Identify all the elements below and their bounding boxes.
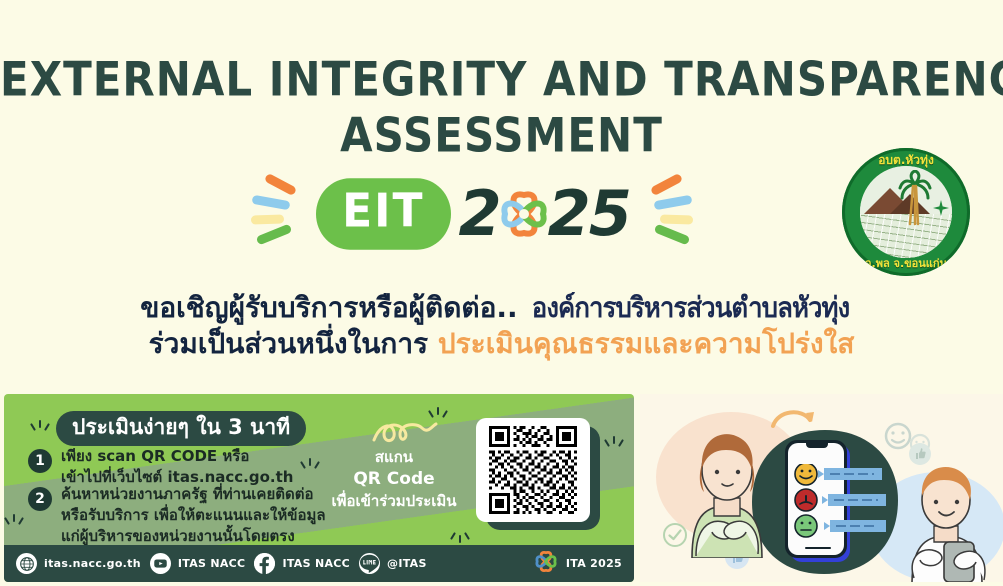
line-icon	[359, 553, 380, 574]
step2-line-1: ค้นหาหน่วยงานภาครัฐ ที่ท่านเคยติดต่อ	[61, 484, 326, 505]
globe-icon	[16, 553, 37, 574]
footer-item-line[interactable]: @ITAS	[359, 553, 427, 574]
invite-line2-highlight: ประเมินคุณธรรมและความโปร่งใส	[438, 327, 855, 360]
feedback-faces	[790, 464, 898, 544]
seal-top-text: อบต.หัวทุ่ง	[842, 151, 970, 170]
step2-line-3: แก่ผู้บริหารของหน่วยงานนั้นโดยตรง	[61, 526, 326, 547]
qr-caption-line-3: เพื่อเข้าร่วมประเมิน	[328, 490, 460, 512]
eit-2025-logo: EIT 2 2 5	[218, 166, 728, 262]
footer-label-website: itas.nacc.go.th	[44, 557, 141, 570]
ita-logo-icon	[533, 548, 559, 580]
eit-pill-label: EIT	[316, 178, 450, 249]
squiggle-decoration-icon	[370, 416, 440, 450]
qr-code-card[interactable]	[476, 418, 590, 522]
poster: EXTERNAL INTEGRITY AND TRANSPARENCY ASSE…	[0, 0, 1003, 586]
qr-caption-line-2: QR Code	[328, 468, 460, 490]
footer-item-facebook[interactable]: ITAS NACC	[254, 553, 350, 574]
sparkle-icon	[450, 527, 470, 545]
footer-label-line: @ITAS	[387, 557, 427, 570]
rays-left-icon	[246, 172, 308, 256]
person-right-man	[888, 456, 998, 582]
person-left-woman	[674, 418, 784, 558]
sparkle-icon	[604, 434, 624, 452]
qr-code-icon[interactable]	[487, 426, 579, 514]
step-text: ค้นหาหน่วยงานภาครัฐ ที่ท่านเคยติดต่อ หรื…	[61, 484, 326, 547]
star-icon	[933, 200, 949, 216]
step-number-badge: 2	[28, 487, 52, 511]
year-2025: 2 2 5	[459, 183, 630, 245]
facebook-icon	[254, 553, 275, 574]
sparkle-icon	[4, 512, 24, 530]
qr-caption: สแกน QR Code เพื่อเข้าร่วมประเมิน	[328, 446, 460, 512]
invitation-text: ขอเชิญผู้รับบริการหรือผู้ติดต่อ..องค์การ…	[0, 290, 1003, 362]
step2-line-2: หรือรับบริการ เพื่อให้ตะแนนและให้ข้อมูล	[61, 505, 326, 526]
seal-emblem	[860, 166, 952, 258]
qr-caption-line-1: สแกน	[328, 446, 460, 468]
invite-organization-name: องค์การบริหารส่วนตำบลหัวทุ่ง	[532, 290, 849, 326]
footer-label-facebook: ITAS NACC	[282, 557, 350, 570]
panel-heading-badge: ประเมินง่ายๆ ใน 3 นาที	[56, 411, 306, 446]
illustration-panel	[640, 394, 1003, 582]
phone-home-bar	[805, 547, 831, 550]
invite-line1-prefix: ขอเชิญผู้รับบริการหรือผู้ติดต่อ..	[140, 291, 518, 324]
footer-item-website[interactable]: itas.nacc.go.th	[16, 553, 141, 574]
year-digit-1: 2	[459, 183, 500, 245]
year-digit-4: 5	[589, 183, 630, 245]
step-number-badge: 1	[28, 449, 52, 473]
invite-line-2: ร่วมเป็นส่วนหนึ่งในการ ประเมินคุณธรรมและ…	[0, 326, 1003, 362]
footer-item-ita: ITA 2025	[533, 548, 622, 580]
page-title: EXTERNAL INTEGRITY AND TRANSPARENCY ASSE…	[0, 52, 1003, 164]
footer-item-youtube[interactable]: ITAS NACC	[150, 553, 246, 574]
instruction-step-1: 1 เพียง scan QR CODE หรือ เข้าไปที่เว็บไ…	[28, 446, 293, 488]
title-line-1: EXTERNAL INTEGRITY AND TRANSPARENCY	[0, 52, 1003, 108]
seal-bottom-text: อ.พล จ.ขอนแก่น	[842, 254, 970, 272]
organization-seal: อบต.หัวทุ่ง อ.พล จ.ขอนแก่น	[842, 148, 970, 276]
palm-tree-icon	[898, 170, 932, 230]
ita-flower-icon	[496, 185, 552, 243]
sparkle-icon	[30, 418, 50, 436]
invite-line-1: ขอเชิญผู้รับบริการหรือผู้ติดต่อ..องค์การ…	[0, 290, 1003, 326]
footer-label-ita: ITA 2025	[566, 557, 622, 570]
footer-bar: itas.nacc.go.th ITAS NACC ITAS NACC	[4, 545, 634, 582]
youtube-icon	[150, 553, 171, 574]
invite-line2-prefix: ร่วมเป็นส่วนหนึ่งในการ	[149, 327, 438, 360]
footer-label-youtube: ITAS NACC	[178, 557, 246, 570]
sparkle-icon	[300, 456, 320, 474]
rays-right-icon	[638, 172, 700, 256]
step-text: เพียง scan QR CODE หรือ เข้าไปที่เว็บไซต…	[61, 446, 293, 488]
phone-notch	[806, 443, 828, 448]
step1-line-1: เพียง scan QR CODE หรือ	[61, 446, 293, 467]
instruction-step-2: 2 ค้นหาหน่วยงานภาครัฐ ที่ท่านเคยติดต่อ ห…	[28, 484, 326, 547]
year-digit-3: 2	[548, 183, 589, 245]
